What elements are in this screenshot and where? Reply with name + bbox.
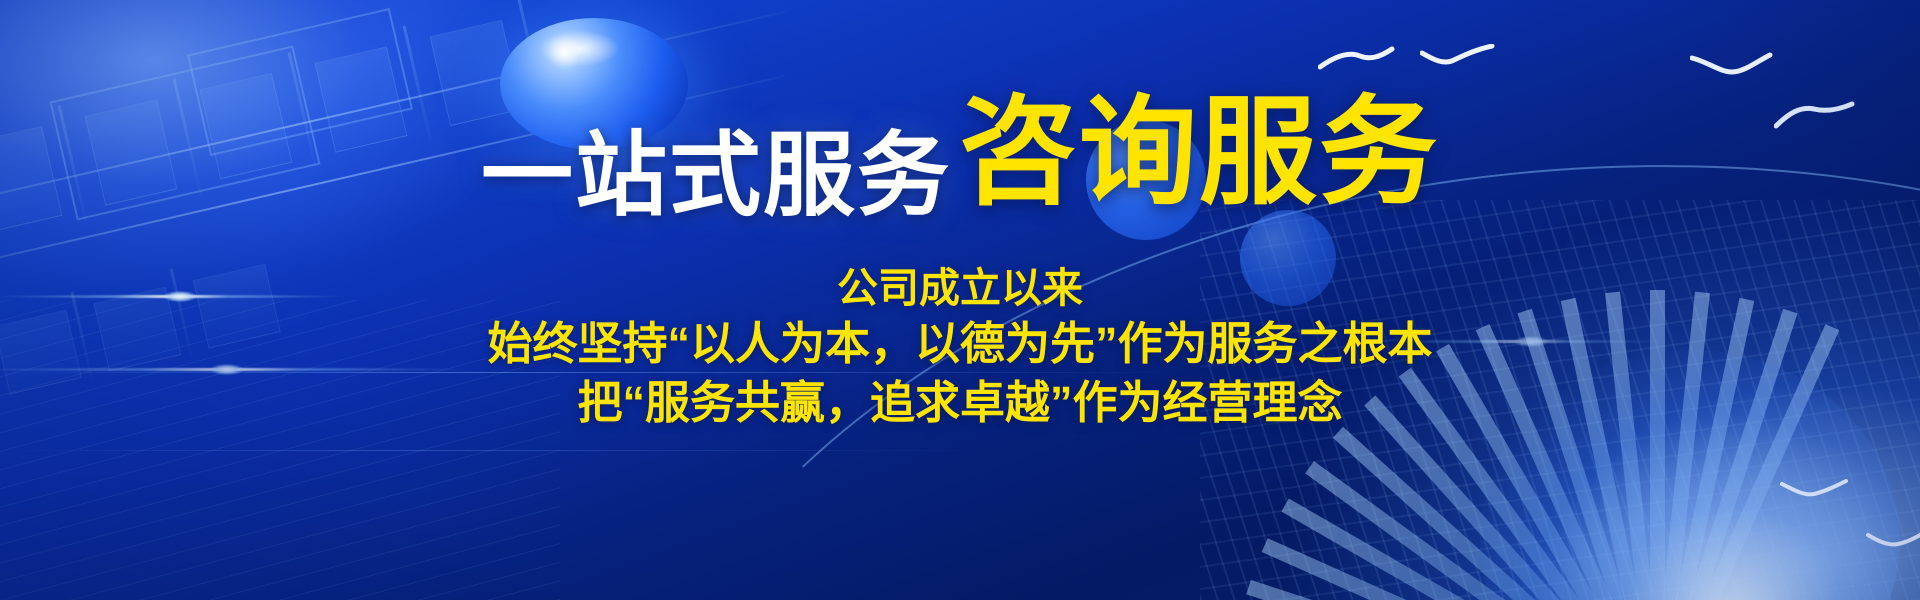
flying-seagull <box>1318 45 1404 75</box>
subtitle-line-2: 始终坚持“以人为本，以德为先”作为服务之根本 <box>0 315 1920 374</box>
headline-accent-text: 咨询服务 <box>959 94 1439 212</box>
headline: 一站式服务 咨询服务 <box>0 76 1920 226</box>
promotional-banner: 一站式服务 咨询服务 公司成立以来 始终坚持“以人为本，以德为先”作为服务之根本… <box>0 0 1920 600</box>
subtitle-line-1: 公司成立以来 <box>0 262 1920 315</box>
flying-seagull <box>1420 44 1500 72</box>
subtitle-block: 公司成立以来 始终坚持“以人为本，以德为先”作为服务之根本 把“服务共赢，追求卓… <box>0 262 1920 432</box>
flying-seagull <box>1866 530 1920 552</box>
subtitle-line-3: 把“服务共赢，追求卓越”作为经营理念 <box>0 374 1920 433</box>
flying-seagull <box>1780 478 1850 502</box>
headline-main-text: 一站式服务 <box>481 130 951 226</box>
